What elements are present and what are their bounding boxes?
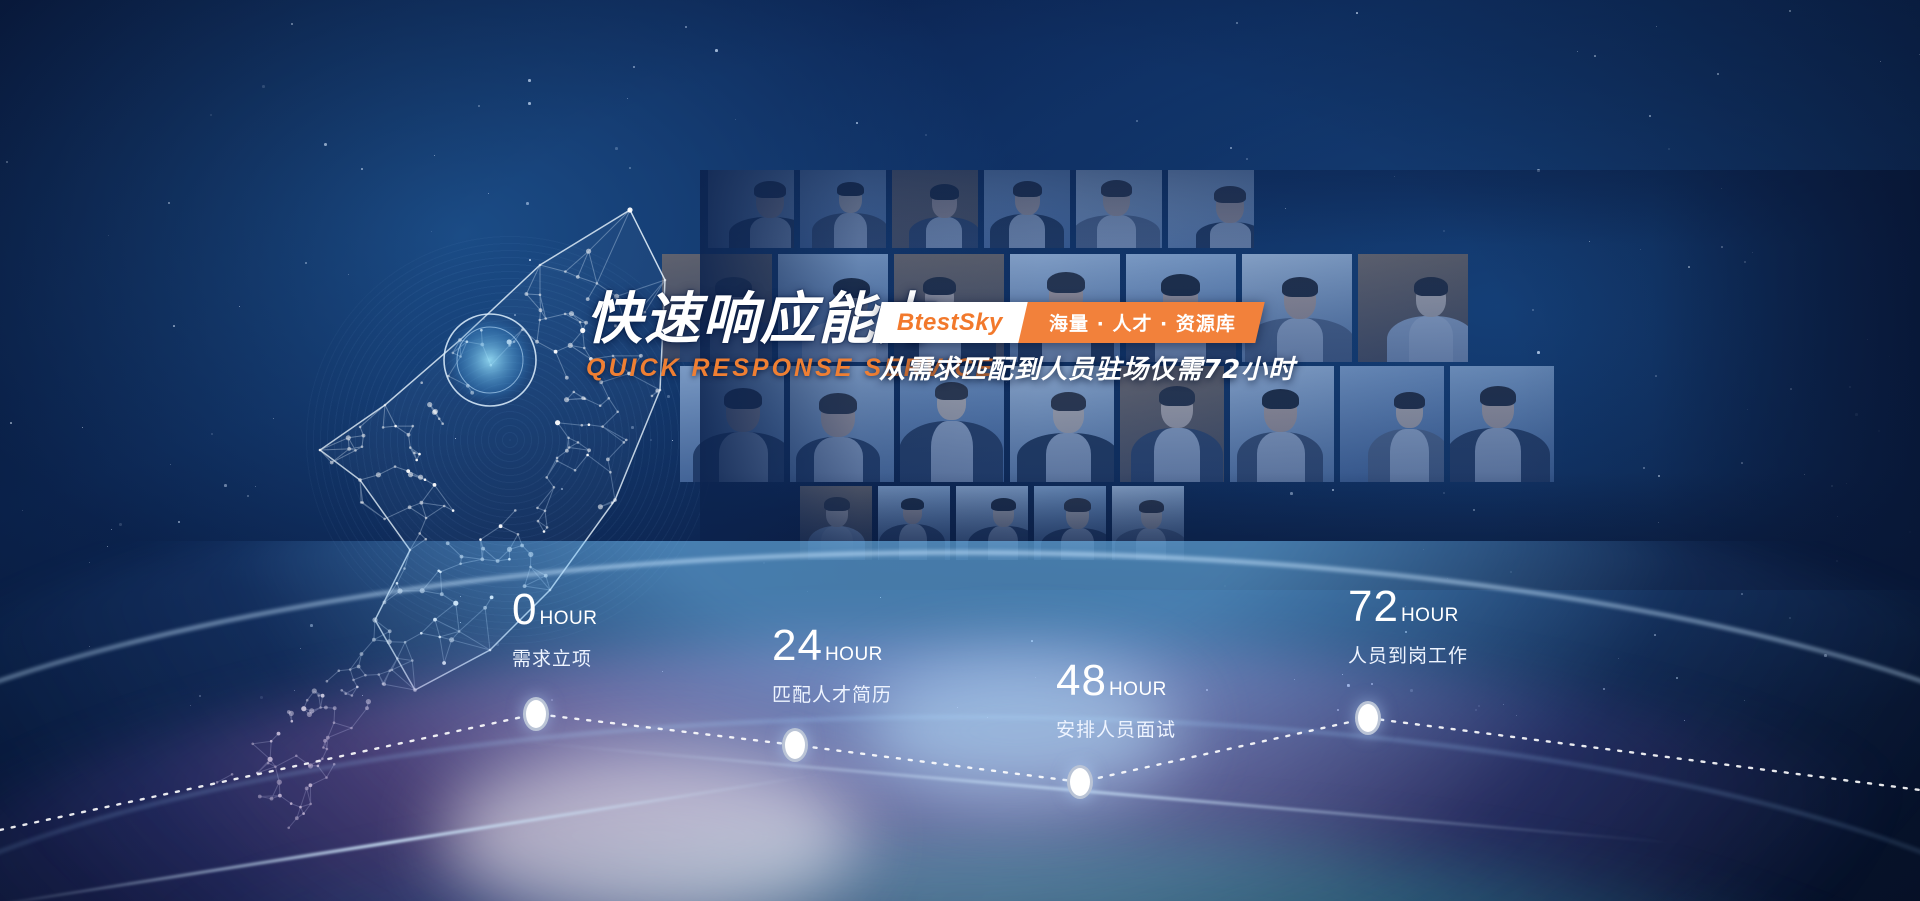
brand-badge: BtestSky bbox=[872, 302, 1029, 343]
banner-stage: 快速响应能力 BtestSky 海量 · 人才 · 资源库 QUICK RESP… bbox=[0, 0, 1920, 901]
headline-subtitle-cn: 从需求匹配到人员驻场仅需72小时 bbox=[879, 349, 1295, 386]
headline-block: 快速响应能力 BtestSky 海量 · 人才 · 资源库 QUICK RESP… bbox=[586, 292, 1586, 383]
brand-label: BtestSky bbox=[897, 309, 1003, 337]
aurora-horizon bbox=[0, 541, 1920, 901]
brand-ribbon: BtestSky 海量 · 人才 · 资源库 bbox=[877, 302, 1260, 343]
tagline-label: 海量 · 人才 · 资源库 bbox=[1049, 309, 1236, 336]
tagline-badge: 海量 · 人才 · 资源库 bbox=[1018, 302, 1264, 343]
